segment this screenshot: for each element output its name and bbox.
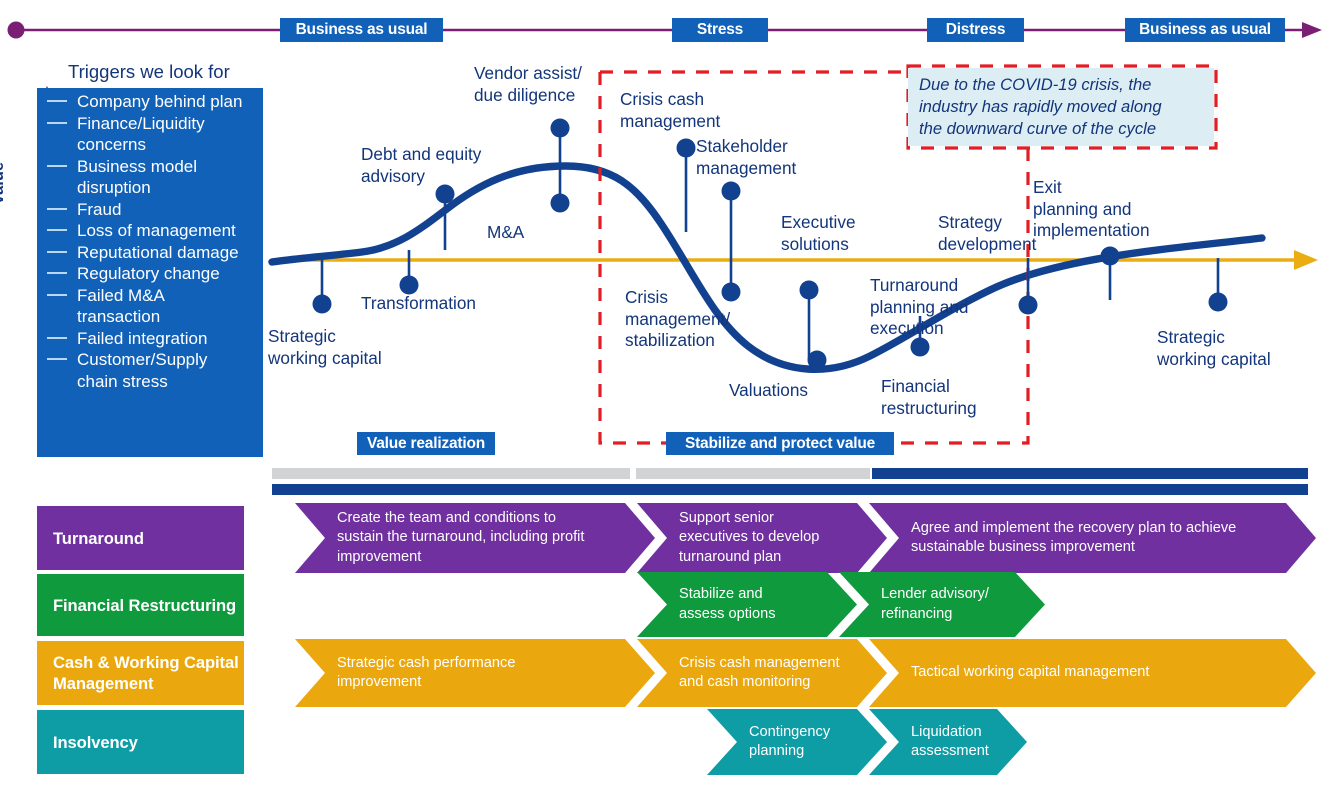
service-row-name-0: Turnaround: [37, 506, 244, 570]
service-chevron[interactable]: Liquidation assessment: [869, 709, 1027, 775]
service-chevron-label: Liquidation assessment: [869, 709, 1027, 775]
service-chevron[interactable]: Agree and implement the recovery plan to…: [869, 503, 1316, 573]
service-chevron[interactable]: Crisis cash management and cash monitori…: [637, 639, 887, 707]
service-chevron-label: Support senior executives to develop tur…: [637, 503, 887, 573]
curve-service-label: Exit planning and implementation: [1033, 177, 1150, 242]
progress-bar-segment: [872, 468, 1308, 479]
service-chevron-label: Create the team and conditions to sustai…: [295, 503, 655, 573]
curve-service-label: Crisis management/ stabilization: [625, 287, 730, 352]
service-row-name-3: Insolvency: [37, 710, 244, 774]
progress-bar-total: [272, 484, 1308, 495]
service-row-name-1: Financial Restructuring: [37, 574, 244, 636]
curve-dot-marker: [1019, 296, 1038, 315]
service-chevron[interactable]: Contingency planning: [707, 709, 887, 775]
progress-bar-segment: [636, 468, 870, 479]
service-row-name-2: Cash & Working Capital Management: [37, 641, 244, 705]
curve-dot-marker: [800, 281, 819, 300]
curve-service-label: Turnaround planning and execution: [870, 275, 968, 340]
service-chevron[interactable]: Support senior executives to develop tur…: [637, 503, 887, 573]
curve-dot-marker: [313, 295, 332, 314]
service-chevron-label: Stabilize and assess options: [637, 572, 857, 637]
curve-dot-marker: [911, 338, 930, 357]
curve-service-label: Crisis cash management: [620, 89, 720, 132]
stage-label: Value realization: [357, 432, 495, 455]
curve-dot-marker: [436, 185, 455, 204]
curve-service-label: Strategic working capital: [268, 326, 382, 369]
curve-service-label: Stakeholder management: [696, 136, 796, 179]
curve-dot-marker: [1101, 247, 1120, 266]
progress-bar-segment: [272, 468, 630, 479]
curve-service-label: Strategy development: [938, 212, 1036, 255]
curve-dot-marker: [400, 276, 419, 295]
curve-service-label: Valuations: [729, 380, 808, 402]
covid-callout-box: Due to the COVID-19 crisis, the industry…: [908, 68, 1214, 146]
service-chevron-label: Lender advisory/ refinancing: [839, 572, 1045, 637]
curve-dot-marker: [1209, 293, 1228, 312]
curve-service-label: M&A: [487, 222, 524, 244]
diagram-canvas: Business as usualStressDistressBusiness …: [0, 0, 1336, 794]
curve-dot-marker: [551, 119, 570, 138]
curve-service-label: Debt and equity advisory: [361, 144, 481, 187]
curve-service-label: Executive solutions: [781, 212, 856, 255]
service-chevron[interactable]: Stabilize and assess options: [637, 572, 857, 637]
service-chevron[interactable]: Create the team and conditions to sustai…: [295, 503, 655, 573]
stage-label: Stabilize and protect value: [666, 432, 894, 455]
service-chevron[interactable]: Tactical working capital management: [869, 639, 1316, 707]
service-chevron-label: Contingency planning: [707, 709, 887, 775]
curve-service-label: Vendor assist/ due diligence: [474, 63, 582, 106]
curve-dot-marker: [551, 194, 570, 213]
curve-dot-marker: [722, 182, 741, 201]
curve-dot-marker: [808, 351, 827, 370]
curve-service-label: Strategic working capital: [1157, 327, 1271, 370]
covid-callout-text: Due to the COVID-19 crisis, the industry…: [908, 74, 1162, 140]
service-chevron-label: Strategic cash performance improvement: [295, 639, 655, 707]
curve-service-label: Transformation: [361, 293, 476, 315]
service-chevron-label: Agree and implement the recovery plan to…: [869, 503, 1316, 573]
service-chevron[interactable]: Strategic cash performance improvement: [295, 639, 655, 707]
baseline-arrowhead: [1294, 250, 1318, 270]
curve-service-label: Financial restructuring: [881, 376, 977, 419]
curve-dot-marker: [677, 139, 696, 158]
service-chevron[interactable]: Lender advisory/ refinancing: [839, 572, 1045, 637]
service-chevron-label: Tactical working capital management: [869, 639, 1316, 707]
service-chevron-label: Crisis cash management and cash monitori…: [637, 639, 887, 707]
